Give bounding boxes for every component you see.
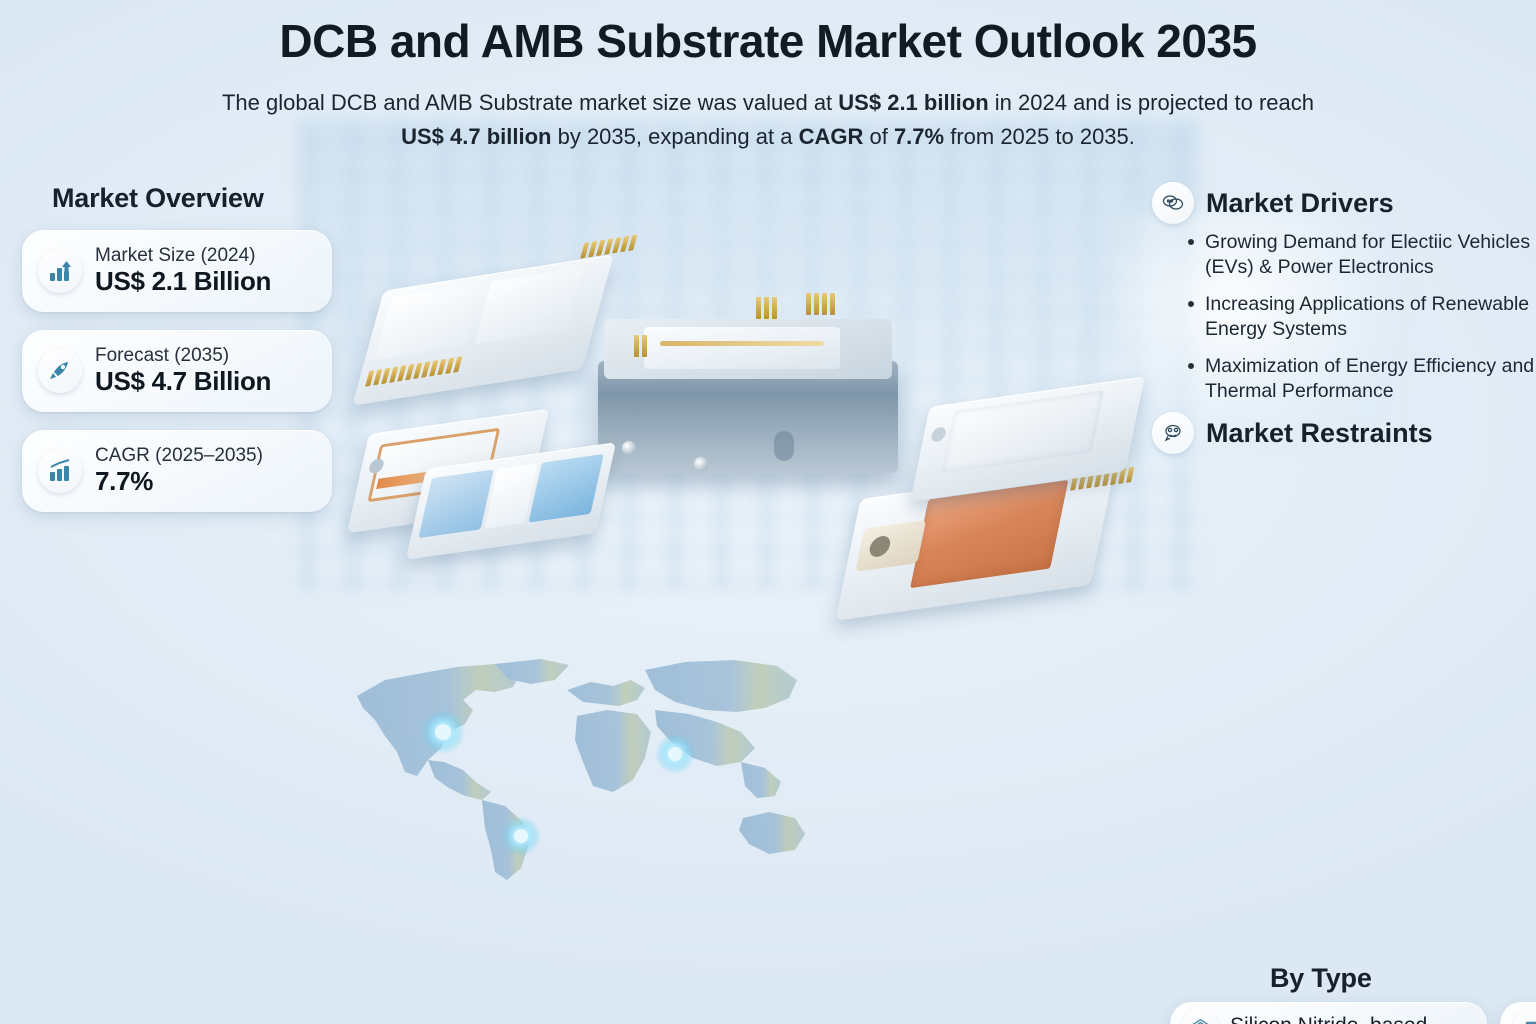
warning-face-icon bbox=[1152, 412, 1194, 454]
forecast-value: US$ 4.7 Billion bbox=[95, 367, 271, 397]
power-module-center bbox=[598, 313, 898, 473]
by-type-card-1[interactable]: Silicon Nitride–based bbox=[1170, 1002, 1487, 1024]
market-restraints-title: Market Restraints bbox=[1206, 418, 1433, 449]
market-size-label: Market Size (2024) bbox=[95, 245, 271, 266]
market-restraints-header: Market Restraints High Cost of Raw Mater… bbox=[1152, 412, 1433, 454]
growth-chart-icon bbox=[38, 449, 82, 493]
page-subtitle: The global DCB and AMB Substrate market … bbox=[96, 86, 1440, 154]
page-title: DCB and AMB Substrate Market Outlook 203… bbox=[0, 14, 1536, 68]
market-size-value: US$ 2.1 Billion bbox=[95, 267, 271, 297]
subtitle-part-3: by 2035, expanding at a bbox=[551, 124, 798, 149]
rocket-icon bbox=[38, 349, 82, 393]
driver-item: Growing Demand for Electiic Vehicles (EV… bbox=[1186, 230, 1536, 279]
market-drivers-title: Market Drivers bbox=[1206, 188, 1394, 219]
thin-layers-icon bbox=[1514, 1009, 1536, 1024]
subtitle-cagr-word: CAGR bbox=[799, 124, 864, 149]
hero-product-image bbox=[350, 235, 1140, 575]
by-type-title: By Type bbox=[1270, 963, 1372, 994]
speech-bubbles-icon bbox=[1152, 182, 1194, 224]
driver-item: Maximization of Energy Efficiency and Th… bbox=[1186, 354, 1536, 403]
market-drivers-list: Growing Demand for Electiic Vehicles (EV… bbox=[1186, 230, 1536, 416]
forecast-card[interactable]: Forecast (2035) US$ 4.7 Billion bbox=[22, 330, 332, 412]
subtitle-cagr-value: 7.7% bbox=[894, 124, 944, 149]
subtitle-part-4: of bbox=[863, 124, 894, 149]
world-map bbox=[345, 640, 815, 890]
thickness-row-thin[interactable]: Thin bbox=[1514, 1009, 1536, 1024]
market-overview-title: Market Overview bbox=[52, 183, 264, 214]
subtitle-part-5: from 2025 to 2035. bbox=[944, 124, 1135, 149]
bar-chart-up-icon bbox=[38, 249, 82, 293]
cagr-label: CAGR (2025–2035) bbox=[95, 445, 263, 466]
power-module-back-left bbox=[352, 254, 614, 405]
layers-icon bbox=[1182, 1008, 1218, 1024]
subtitle-value-2035: US$ 4.7 billion bbox=[401, 124, 551, 149]
market-drivers-header: Market Drivers bbox=[1152, 182, 1394, 224]
forecast-label: Forecast (2035) bbox=[95, 345, 271, 366]
cagr-card[interactable]: CAGR (2025–2035) 7.7% bbox=[22, 430, 332, 512]
subtitle-part-1: The global DCB and AMB Substrate market … bbox=[222, 90, 838, 115]
by-type-row-silicon-nitride[interactable]: Silicon Nitride–based bbox=[1182, 1008, 1427, 1024]
by-type-label: Silicon Nitride–based bbox=[1230, 1014, 1427, 1024]
subtitle-part-2: in 2024 and is projected to reach bbox=[989, 90, 1314, 115]
market-size-card[interactable]: Market Size (2024) US$ 2.1 Billion bbox=[22, 230, 332, 312]
driver-item: Increasing Applications of Renewable Ene… bbox=[1186, 292, 1536, 341]
cagr-value: 7.7% bbox=[95, 467, 263, 497]
subtitle-value-2024: US$ 2.1 billion bbox=[838, 90, 988, 115]
